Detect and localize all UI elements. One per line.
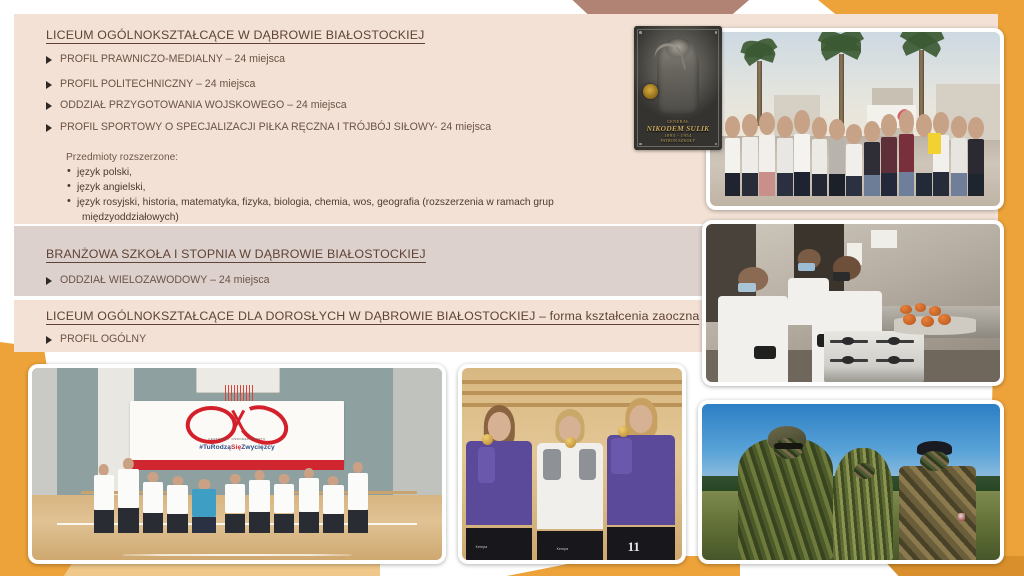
person bbox=[812, 117, 828, 195]
bullet-item: PROFIL OGÓLNY bbox=[46, 333, 146, 346]
cos-banner: CENTRALNY OŚRODEK SPORTU #TuRodząSięZwyc… bbox=[130, 401, 343, 466]
cos-hashtag-prefix: #TuRodzą bbox=[199, 444, 231, 451]
military-training-photo bbox=[698, 400, 1004, 564]
cos-logo-icon bbox=[184, 406, 291, 436]
bullet-label: PROFIL OGÓLNY bbox=[60, 333, 146, 346]
head bbox=[630, 405, 653, 433]
medal-icon bbox=[565, 437, 576, 448]
camouflaged-face bbox=[854, 463, 875, 479]
person bbox=[933, 112, 949, 196]
burner bbox=[888, 356, 900, 364]
plaque-line-name: NIKODEM SULIK bbox=[638, 124, 719, 133]
gym-team-banner-photo: CENTRALNY OŚRODEK SPORTU #TuRodząSięZwyc… bbox=[28, 364, 446, 564]
food-item bbox=[900, 305, 912, 314]
section-heading-doroslych-tail: – forma kształcenia zaoczna bbox=[535, 309, 699, 323]
camouflaged-face bbox=[920, 451, 950, 471]
bullet-label: PROFIL SPORTOWY O SPECJALIZACJI PIŁKA RĘ… bbox=[60, 121, 491, 134]
bullet-label: ODDZIAŁ PRZYGOTOWANIA WOJSKOWEGO – 24 mi… bbox=[60, 99, 347, 112]
bullet-label: PROFIL POLITECHNICZNY – 24 miejsca bbox=[60, 78, 255, 91]
white-coat bbox=[788, 278, 829, 325]
student-group-image bbox=[710, 32, 1000, 206]
burner bbox=[842, 337, 854, 345]
list-item: język polski, bbox=[66, 165, 554, 180]
player bbox=[249, 470, 270, 533]
bullet-label: PROFIL PRAWNICZO-MEDIALNY – 24 miejsca bbox=[60, 53, 285, 66]
face-mask bbox=[833, 272, 850, 281]
extended-subjects-block: Przedmioty rozszerzone: język polski, ję… bbox=[66, 150, 554, 225]
player bbox=[225, 474, 246, 534]
raised-arm bbox=[543, 449, 560, 480]
yellow-bag bbox=[928, 133, 941, 154]
brand-label: Kempa bbox=[476, 545, 488, 549]
medalists-image: Kempa Kempa 11 bbox=[462, 368, 682, 560]
player bbox=[94, 464, 115, 533]
person bbox=[864, 121, 880, 196]
section-heading-liceum: LICEUM OGÓLNOKSZTAŁCĄCE W DĄBROWIE BIAŁO… bbox=[46, 28, 425, 44]
person bbox=[777, 116, 793, 196]
wall-notice bbox=[871, 230, 897, 247]
commemorative-plaque-photo: GENERAŁ NIKODEM SULIK 1893 - 1954 PATRON… bbox=[634, 26, 722, 150]
athlete-left: Kempa bbox=[466, 399, 532, 560]
person bbox=[725, 116, 741, 196]
raised-arm bbox=[579, 449, 596, 480]
person bbox=[916, 114, 932, 196]
person bbox=[968, 117, 984, 195]
basketball-net bbox=[225, 385, 254, 400]
cos-hashtag-highlight: Się bbox=[231, 444, 241, 451]
triangle-bullet-icon bbox=[46, 124, 52, 132]
triangle-bullet-icon bbox=[46, 102, 52, 110]
goggles-icon bbox=[774, 443, 804, 449]
student-cook-background bbox=[788, 249, 829, 325]
wall-bar bbox=[462, 380, 682, 384]
raised-arm bbox=[478, 447, 495, 482]
person bbox=[951, 116, 967, 196]
military-training-image bbox=[702, 404, 1000, 560]
plaque-inscription: GENERAŁ NIKODEM SULIK 1893 - 1954 PATRON… bbox=[638, 119, 719, 144]
student-cook bbox=[718, 265, 789, 382]
list-item: język angielski, bbox=[66, 180, 554, 195]
player bbox=[274, 474, 295, 534]
gym-team-image: CENTRALNY OŚRODEK SPORTU #TuRodząSięZwyc… bbox=[32, 368, 442, 560]
text-content-layer: LICEUM OGÓLNOKSZTAŁCĄCE W DĄBROWIE BIAŁO… bbox=[0, 0, 700, 360]
person bbox=[742, 114, 758, 196]
plaque-rivet-icon bbox=[715, 31, 718, 34]
triangle-bullet-icon bbox=[46, 336, 52, 344]
food-item bbox=[921, 316, 934, 327]
culinary-class-image bbox=[706, 224, 1000, 382]
plaque-rivet-icon bbox=[639, 31, 642, 34]
section-heading-doroslych-main: LICEUM OGÓLNOKSZTAŁCĄCE DLA DOROSŁYCH W … bbox=[46, 309, 535, 323]
coach bbox=[192, 479, 217, 533]
athlete-center: Kempa bbox=[537, 406, 603, 560]
athlete-right: 11 bbox=[607, 395, 675, 560]
person bbox=[759, 112, 775, 196]
face-mask bbox=[798, 263, 815, 271]
slide-canvas: LICEUM OGÓLNOKSZTAŁCĄCE W DĄBROWIE BIAŁO… bbox=[0, 0, 1024, 576]
student-group-photo bbox=[706, 28, 1004, 210]
list-item-label: język polski, bbox=[77, 167, 132, 178]
triangle-bullet-icon bbox=[46, 56, 52, 64]
cos-hashtag: #TuRodząSięZwycięzcy bbox=[130, 444, 343, 451]
brand-label: Kempa bbox=[557, 547, 569, 551]
triangle-bullet-icon bbox=[46, 81, 52, 89]
person bbox=[794, 110, 810, 195]
plaque-emblem-icon bbox=[643, 84, 658, 99]
unit-patch-icon bbox=[958, 513, 965, 521]
plaque-line-note: PATRON SZKOŁY bbox=[638, 139, 719, 144]
burner bbox=[842, 356, 854, 364]
plaque-image: GENERAŁ NIKODEM SULIK 1893 - 1954 PATRON… bbox=[634, 26, 722, 150]
bullet-item: PROFIL POLITECHNICZNY – 24 miejsca bbox=[46, 78, 255, 91]
white-coat bbox=[718, 296, 789, 383]
face-mask bbox=[738, 283, 756, 292]
palm-tree bbox=[814, 35, 868, 129]
bullet-item: PROFIL SPORTOWY O SPECJALIZACJI PIŁKA RĘ… bbox=[46, 121, 491, 134]
purple-jacket bbox=[466, 441, 532, 525]
player bbox=[167, 476, 188, 534]
list-item: język rosyjski, historia, matematyka, fi… bbox=[66, 195, 554, 225]
player bbox=[348, 462, 369, 533]
raised-arm bbox=[611, 438, 631, 474]
person bbox=[829, 119, 845, 196]
person bbox=[899, 110, 915, 195]
cos-subtitle: CENTRALNY OŚRODEK SPORTU bbox=[130, 437, 343, 441]
person bbox=[846, 124, 862, 195]
wall-panel bbox=[393, 368, 442, 499]
shorts bbox=[537, 531, 603, 560]
black-glove bbox=[754, 346, 775, 359]
burner bbox=[888, 337, 900, 345]
medalists-photo: Kempa Kempa 11 bbox=[458, 364, 686, 564]
wall-panel bbox=[32, 368, 57, 499]
section-heading-branzowa: BRANŻOWA SZKOŁA I STOPNIA W DĄBROWIE BIA… bbox=[46, 247, 426, 263]
list-item-label: język rosyjski, historia, matematyka, fi… bbox=[77, 197, 554, 208]
player bbox=[323, 476, 344, 534]
bullet-item: ODDZIAŁ WIELOZAWODOWY – 24 miejsca bbox=[46, 274, 270, 287]
extended-subjects-list: język polski, język angielski, język ros… bbox=[66, 165, 554, 225]
bullet-label: ODDZIAŁ WIELOZAWODOWY – 24 miejsca bbox=[60, 274, 270, 287]
shorts bbox=[607, 527, 675, 560]
list-item-label: język angielski, bbox=[77, 182, 146, 193]
triangle-bullet-icon bbox=[46, 277, 52, 285]
player bbox=[299, 468, 320, 533]
orange-strip-bottom-left bbox=[60, 562, 380, 576]
bullet-item: ODDZIAŁ PRZYGOTOWANIA WOJSKOWEGO – 24 mi… bbox=[46, 99, 347, 112]
cos-hashtag-suffix: Zwycięzcy bbox=[241, 444, 275, 451]
gas-stove bbox=[824, 331, 924, 382]
culinary-class-photo bbox=[702, 220, 1004, 386]
extended-subjects-title: Przedmioty rozszerzone: bbox=[66, 150, 554, 165]
bullet-item: PROFIL PRAWNICZO-MEDIALNY – 24 miejsca bbox=[46, 53, 285, 66]
section-heading-doroslych: LICEUM OGÓLNOKSZTAŁCĄCE DLA DOROSŁYCH W … bbox=[46, 309, 699, 325]
player bbox=[118, 458, 139, 533]
list-item-continuation: międzyoddziałowych) bbox=[77, 210, 554, 225]
jersey-number: 11 bbox=[628, 539, 640, 555]
player bbox=[143, 472, 164, 533]
person bbox=[881, 114, 897, 196]
